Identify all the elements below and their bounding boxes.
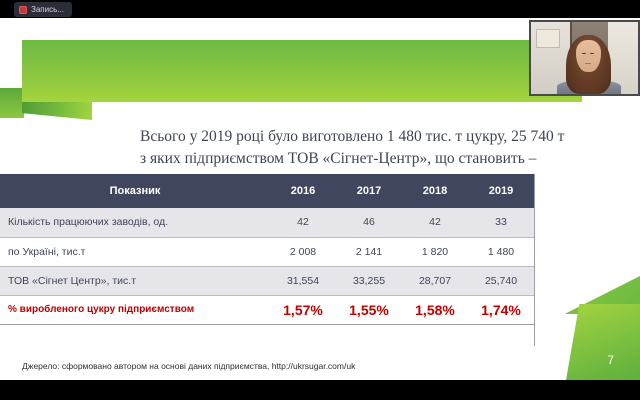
row-value: 1,57% (270, 295, 336, 324)
row-value: 33 (468, 208, 534, 237)
column-header-2019: 2019 (468, 174, 534, 208)
row-value: 1 480 (468, 237, 534, 266)
video-background-picture (536, 29, 559, 48)
row-value: 1,55% (336, 295, 402, 324)
recording-indicator[interactable]: Запись... (14, 2, 72, 17)
row-value: 28,707 (402, 266, 468, 295)
column-header-2017: 2017 (336, 174, 402, 208)
row-value: 46 (336, 208, 402, 237)
row-value: 42 (270, 208, 336, 237)
row-value: 1,58% (402, 295, 468, 324)
ribbon-fold-decoration (22, 102, 92, 120)
row-value: 2 008 (270, 237, 336, 266)
sugar-production-table: Показник 2016 2017 2018 2019 Кількість п… (0, 174, 534, 325)
row-value: 31,554 (270, 266, 336, 295)
recording-label: Запись... (31, 5, 64, 14)
row-value: 1 820 (402, 237, 468, 266)
row-value: 25,740 (468, 266, 534, 295)
row-label: % виробленого цукру підприємством (0, 295, 270, 324)
presenter-eye-right (590, 53, 593, 55)
corner-ribbon-decoration (566, 304, 640, 380)
row-label: Кількість працюючих заводів, од. (0, 208, 270, 237)
row-value: 33,255 (336, 266, 402, 295)
column-header-2018: 2018 (402, 174, 468, 208)
presenter-video-thumbnail[interactable] (529, 20, 640, 96)
row-value: 2 141 (336, 237, 402, 266)
ribbon-banner-decoration (22, 40, 582, 102)
presenter-eye-left (582, 53, 585, 55)
column-header-indicator: Показник (0, 174, 270, 208)
row-value: 42 (402, 208, 468, 237)
record-dot-icon (19, 6, 27, 14)
table-header: Показник 2016 2017 2018 2019 (0, 174, 534, 208)
presenter-face (576, 40, 601, 72)
table-row: ТОВ «Сігнет Центр», тис.т 31,554 33,255 … (0, 266, 534, 295)
table-header-row: Показник 2016 2017 2018 2019 (0, 174, 534, 208)
page-number: 7 (607, 354, 614, 366)
row-label: ТОВ «Сігнет Центр», тис.т (0, 266, 270, 295)
table-row: Кількість працюючих заводів, од. 42 46 4… (0, 208, 534, 237)
table-row: по Україні, тис.т 2 008 2 141 1 820 1 48… (0, 237, 534, 266)
screen-share-surface: Запись... Всього у 2019 році було вигото… (0, 0, 640, 400)
row-label: по Україні, тис.т (0, 237, 270, 266)
row-value: 1,74% (468, 295, 534, 324)
presenter-mouth (585, 63, 591, 65)
ribbon-tail-decoration (0, 88, 24, 118)
table-row-highlight: % виробленого цукру підприємством 1,57% … (0, 295, 534, 324)
column-header-2016: 2016 (270, 174, 336, 208)
source-note: Джерело: сформовано автором на основі да… (22, 361, 355, 371)
table-body: Кількість працюючих заводів, од. 42 46 4… (0, 208, 534, 324)
